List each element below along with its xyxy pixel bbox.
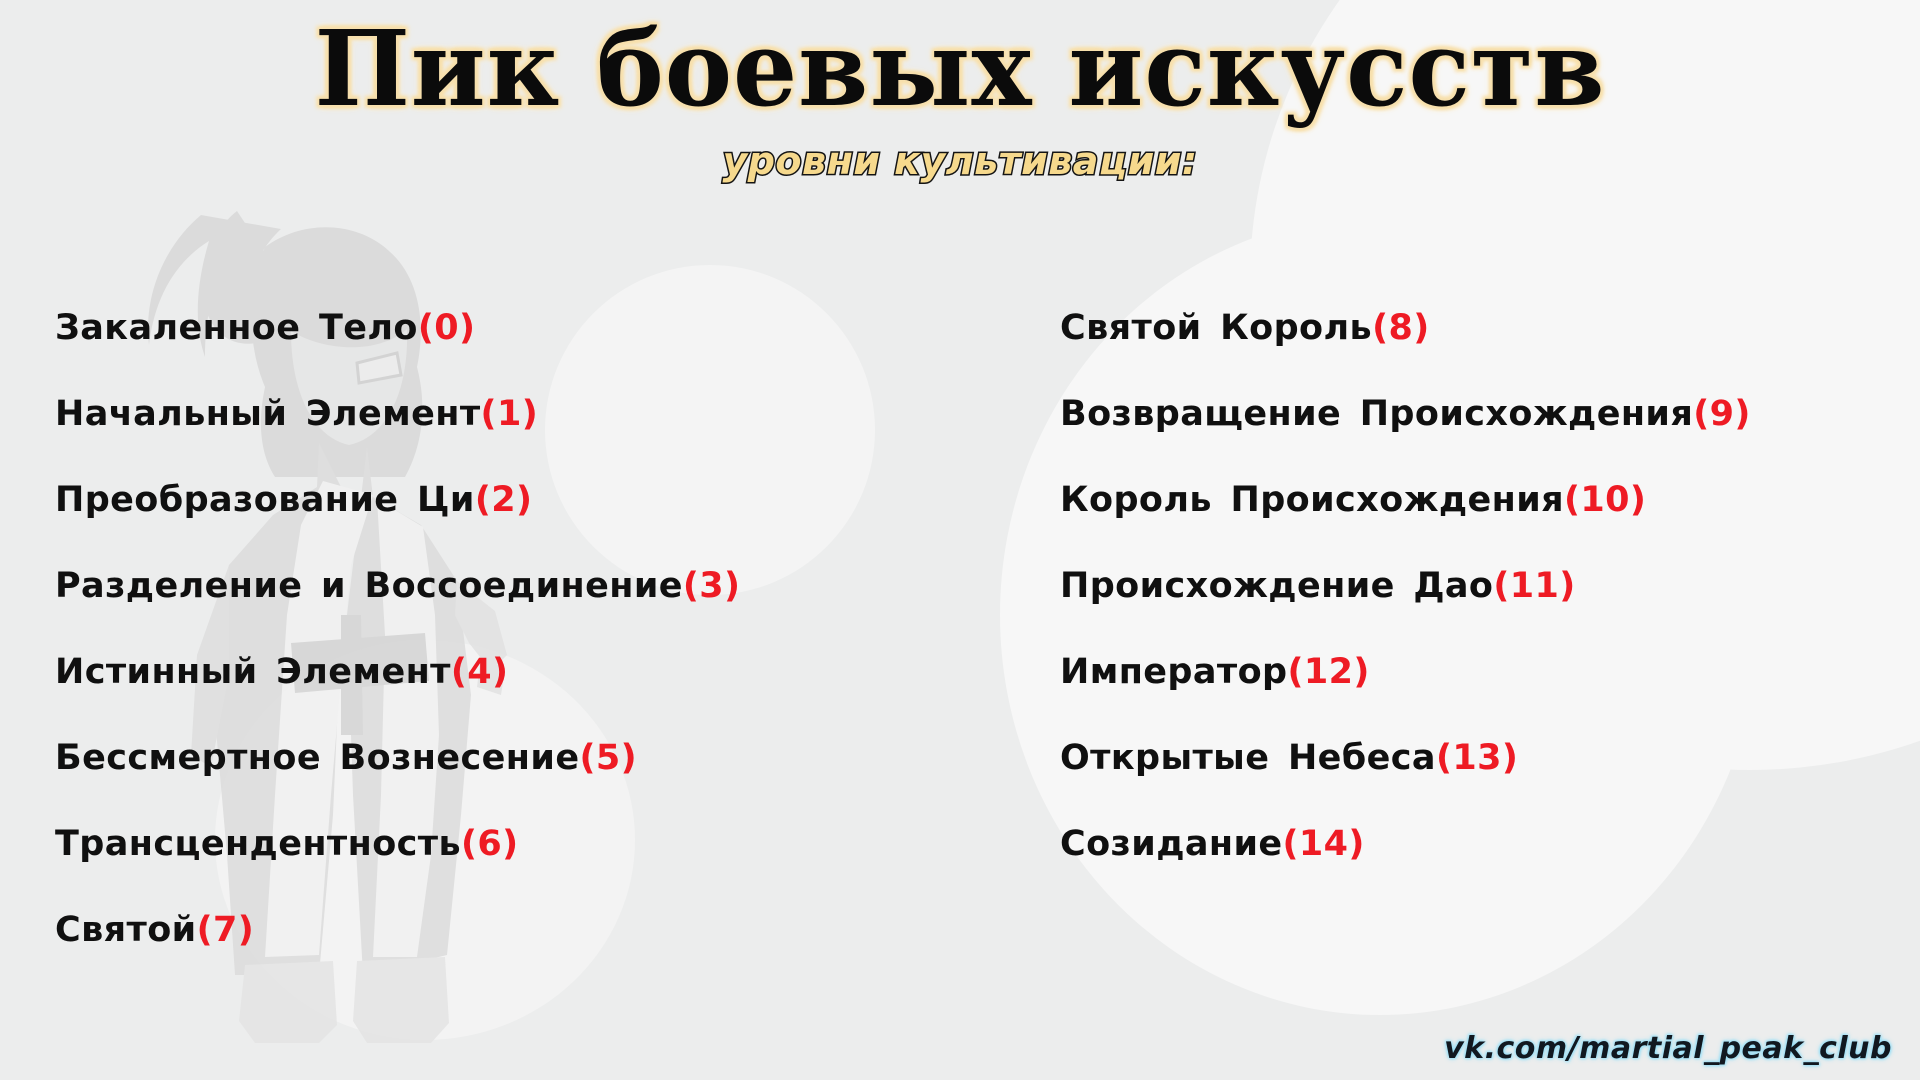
title-block: Пик боевых искусств уровни культивации:: [0, 0, 1920, 183]
rank-name: Король Происхождения: [1060, 480, 1564, 520]
rank-item: Преобразование Ци(2): [55, 457, 795, 543]
rank-level: (0): [418, 308, 476, 348]
rank-name: Созидание: [1060, 824, 1283, 864]
rank-item: Открытые Небеса(13): [1060, 715, 1880, 801]
page-subtitle: уровни культивации:: [0, 133, 1920, 183]
rank-level: (5): [579, 738, 637, 778]
rank-name: Возвращение Происхождения: [1060, 394, 1693, 434]
rank-item: Святой Король(8): [1060, 285, 1880, 371]
rank-item: Святой(7): [55, 887, 795, 973]
rank-name: Трансцендентность: [55, 824, 461, 864]
rank-level: (13): [1436, 738, 1518, 778]
rank-level: (4): [451, 652, 509, 692]
rank-list-right: Святой Король(8) Возвращение Происхожден…: [1060, 285, 1880, 887]
rank-level: (7): [197, 910, 255, 950]
rank-name: Происхождение Дао: [1060, 566, 1493, 606]
rank-name: Разделение и Воссоединение: [55, 566, 683, 606]
rank-name: Святой Король: [1060, 308, 1372, 348]
rank-item: Разделение и Воссоединение(3): [55, 543, 795, 629]
rank-level: (8): [1372, 308, 1430, 348]
rank-name: Император: [1060, 652, 1287, 692]
rank-item: Созидание(14): [1060, 801, 1880, 887]
rank-level: (2): [475, 480, 533, 520]
rank-level: (1): [481, 394, 539, 434]
rank-list-left: Закаленное Тело(0) Начальный Элемент(1) …: [55, 285, 795, 973]
rank-name: Закаленное Тело: [55, 308, 418, 348]
rank-level: (9): [1693, 394, 1751, 434]
rank-item: Трансцендентность(6): [55, 801, 795, 887]
rank-item: Король Происхождения(10): [1060, 457, 1880, 543]
rank-item: Происхождение Дао(11): [1060, 543, 1880, 629]
rank-level: (12): [1287, 652, 1369, 692]
rank-name: Открытые Небеса: [1060, 738, 1436, 778]
rank-item: Закаленное Тело(0): [55, 285, 795, 371]
rank-name: Начальный Элемент: [55, 394, 481, 434]
rank-level: (6): [461, 824, 519, 864]
rank-level: (3): [683, 566, 741, 606]
rank-name: Истинный Элемент: [55, 652, 451, 692]
source-watermark: vk.com/martial_peak_club: [1444, 1031, 1892, 1066]
rank-level: (14): [1283, 824, 1365, 864]
rank-item: Начальный Элемент(1): [55, 371, 795, 457]
rank-level: (11): [1493, 566, 1575, 606]
rank-item: Истинный Элемент(4): [55, 629, 795, 715]
page-title: Пик боевых искусств: [29, 0, 1891, 133]
rank-name: Святой: [55, 910, 197, 950]
rank-name: Бессмертное Вознесение: [55, 738, 579, 778]
infographic-canvas: Пик боевых искусств уровни культивации: …: [0, 0, 1920, 1080]
rank-item: Император(12): [1060, 629, 1880, 715]
rank-name: Преобразование Ци: [55, 480, 475, 520]
rank-item: Бессмертное Вознесение(5): [55, 715, 795, 801]
rank-item: Возвращение Происхождения(9): [1060, 371, 1880, 457]
rank-level: (10): [1564, 480, 1646, 520]
